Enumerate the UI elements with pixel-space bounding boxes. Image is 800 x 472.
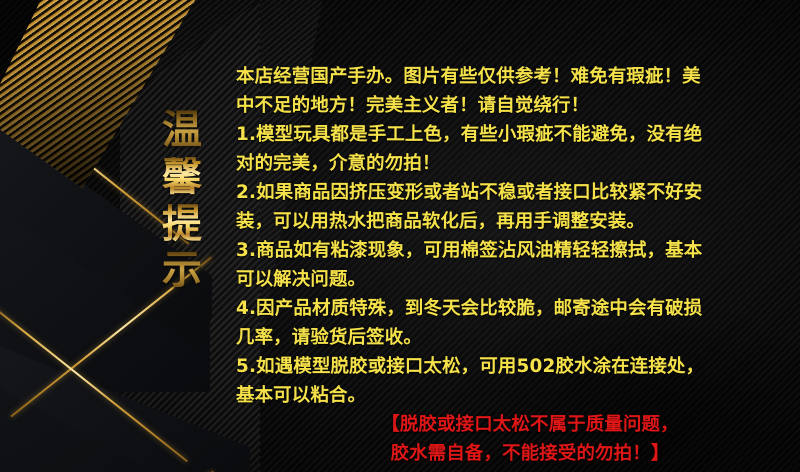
notice-item-5-line-2: 基本可以粘合。	[236, 381, 788, 410]
notice-item-2-line-1: 2.如果商品因挤压变形或者站不稳或者接口比较紧不好安	[236, 178, 788, 207]
notice-intro-line-2: 中不足的地方！完美主义者！请自觉绕行！	[236, 91, 788, 120]
notice-item-1-line-1: 1.模型玩具都是手工上色，有些小瑕疵不能避免，没有绝	[236, 120, 788, 149]
notice-item-4-line-1: 4.因产品材质特殊，到冬天会比较脆，邮寄途中会有破损	[236, 294, 788, 323]
title-char-2: 馨	[162, 157, 202, 198]
notice-warning-line-2: 胶水需自备，不能接受的勿拍！】	[236, 439, 788, 468]
notice-item-3-line-1: 3.商品如有粘漆现象，可用棉签沾风油精轻轻擦拭，基本	[236, 236, 788, 265]
notice-item-3-line-2: 可以解决问题。	[236, 265, 788, 294]
title-char-4: 示	[162, 250, 202, 291]
notice-item-2-line-2: 装，可以用热水把商品软化后，再用手调整安装。	[236, 207, 788, 236]
notice-item-4-line-2: 几率，请验货后签收。	[236, 323, 788, 352]
notice-warning-line-1: 【脱胶或接口太松不属于质量问题，	[236, 410, 788, 439]
warm-tips-banner: 温 馨 提 示 本店经营国产手办。图片有些仅供参考！难免有瑕疵！美 中不足的地方…	[0, 0, 800, 472]
notice-body: 本店经营国产手办。图片有些仅供参考！难免有瑕疵！美 中不足的地方！完美主义者！请…	[236, 62, 788, 468]
notice-item-5-line-1: 5.如遇模型脱胶或接口太松，可用502胶水涂在连接处，	[236, 352, 788, 381]
notice-item-1-line-2: 对的完美，介意的勿拍！	[236, 149, 788, 178]
title-char-1: 温	[162, 110, 202, 151]
notice-intro-line-1: 本店经营国产手办。图片有些仅供参考！难免有瑕疵！美	[236, 62, 788, 91]
title-char-3: 提	[162, 204, 202, 245]
warm-tips-title: 温 馨 提 示	[150, 110, 214, 291]
